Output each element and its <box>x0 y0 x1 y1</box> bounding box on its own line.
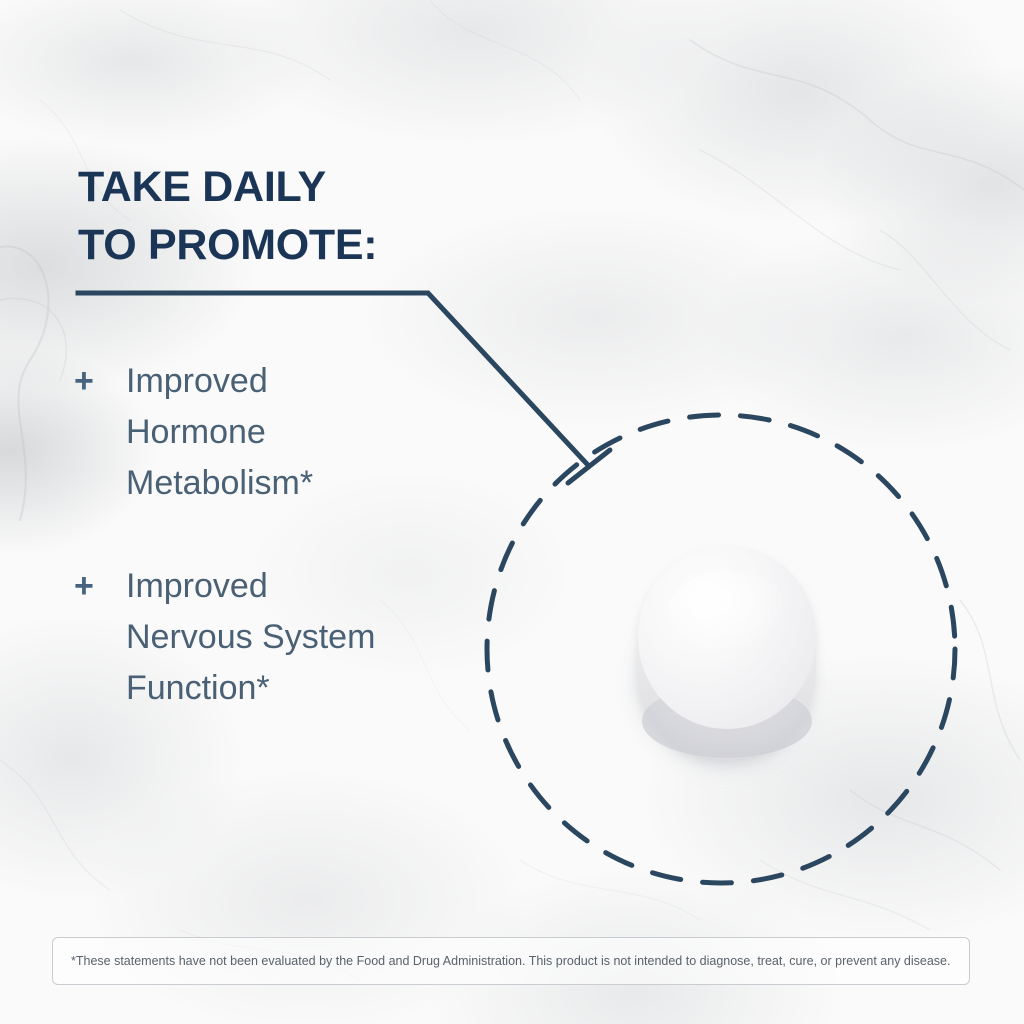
disclaimer-text: *These statements have not been evaluate… <box>71 953 950 969</box>
list-item: + Improved Hormone Metabolism* <box>74 356 494 509</box>
benefit-label: Improved Hormone Metabolism* <box>126 356 313 509</box>
benefits-list: + Improved Hormone Metabolism* + Improve… <box>74 356 494 766</box>
disclaimer-box: *These statements have not been evaluate… <box>52 937 970 985</box>
tablet-highlight <box>668 571 788 655</box>
plus-icon: + <box>74 356 126 407</box>
benefit-label: Improved Nervous System Function* <box>126 561 375 714</box>
product-benefits-graphic: TAKE DAILY TO PROMOTE: + Improved Hormon… <box>0 0 1024 1024</box>
list-item: + Improved Nervous System Function* <box>74 561 494 714</box>
white-tablet <box>630 534 826 784</box>
tablet-top-face <box>638 545 816 729</box>
page-title: TAKE DAILY TO PROMOTE: <box>78 158 598 274</box>
plus-icon: + <box>74 561 126 612</box>
